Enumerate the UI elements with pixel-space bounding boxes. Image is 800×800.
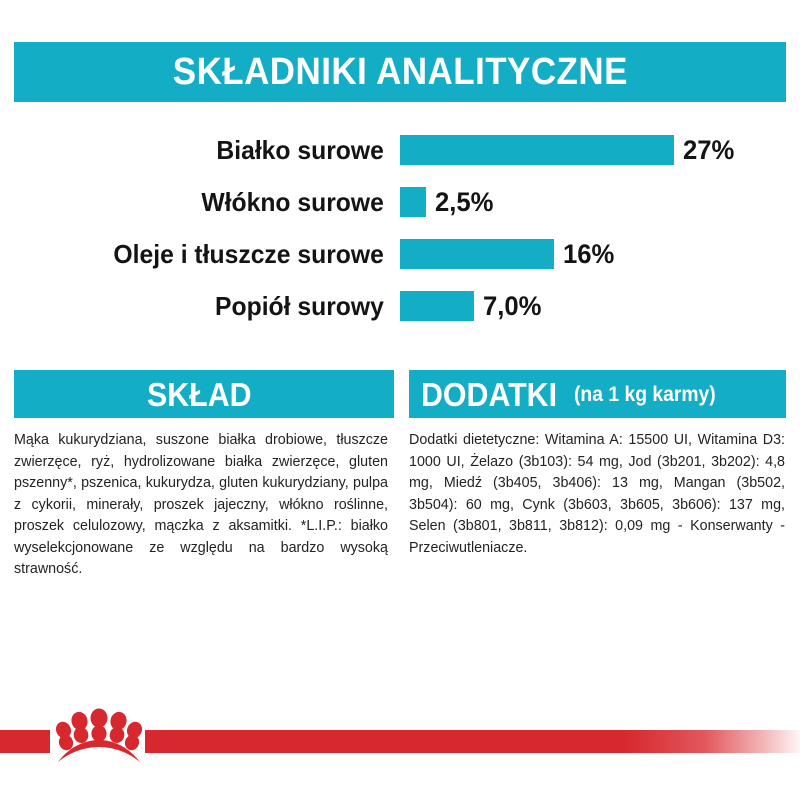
chart-bar-track: 27% (400, 128, 800, 172)
additives-text: Dodatki dietetyczne: Witamina A: 15500 U… (409, 430, 785, 559)
chart-category-label: Popiół surowy (20, 293, 400, 319)
composition-heading: SKŁAD (147, 378, 252, 411)
chart-row: Białko surowe 27% (0, 128, 800, 172)
chart-row: Oleje i tłuszcze surowe 16% (0, 232, 800, 276)
chart-value-label: 7,0% (483, 293, 541, 320)
chart-value-label: 16% (563, 241, 614, 268)
brand-footer (0, 700, 800, 800)
chart-value-label: 2,5% (435, 189, 493, 216)
chart-bar-track: 2,5% (400, 180, 800, 224)
chart-bar (400, 239, 554, 269)
composition-column: SKŁAD Mąka kukurydziana, suszone białka … (14, 370, 394, 581)
chart-bar-track: 16% (400, 232, 800, 276)
additives-column: DODATKI (na 1 kg karmy) Dodatki dietetyc… (409, 370, 786, 559)
additives-body: Dodatki dietetyczne: Witamina A: 15500 U… (409, 430, 785, 559)
composition-header: SKŁAD (14, 370, 394, 418)
royal-canin-crown-icon (56, 705, 142, 767)
chart-bar (400, 291, 474, 321)
composition-body: Mąka kukurydziana, suszone białka drobio… (14, 430, 388, 581)
chart-category-label: Oleje i tłuszcze surowe (20, 241, 400, 267)
footer-rule-right (145, 730, 800, 753)
chart-bar (400, 187, 426, 217)
chart-value-label: 27% (683, 137, 734, 164)
chart-category-label: Włókno surowe (20, 189, 400, 215)
additives-heading: DODATKI (421, 378, 557, 411)
analytical-constituents-banner: SKŁADNIKI ANALITYCZNE (14, 42, 786, 102)
page-title: SKŁADNIKI ANALITYCZNE (172, 53, 627, 91)
chart-row: Popiół surowy 7,0% (0, 284, 800, 328)
additives-heading-note: (na 1 kg karmy) (574, 384, 716, 405)
chart-category-label: Białko surowe (20, 137, 400, 163)
chart-row: Włókno surowe 2,5% (0, 180, 800, 224)
chart-bar (400, 135, 674, 165)
product-info-panel: SKŁADNIKI ANALITYCZNE Białko surowe 27% … (0, 0, 800, 800)
analytical-constituents-chart: Białko surowe 27% Włókno surowe 2,5% Ole… (0, 128, 800, 328)
chart-bar-track: 7,0% (400, 284, 800, 328)
additives-header: DODATKI (na 1 kg karmy) (409, 370, 786, 418)
footer-rule-left (0, 730, 50, 753)
composition-text: Mąka kukurydziana, suszone białka drobio… (14, 430, 388, 581)
